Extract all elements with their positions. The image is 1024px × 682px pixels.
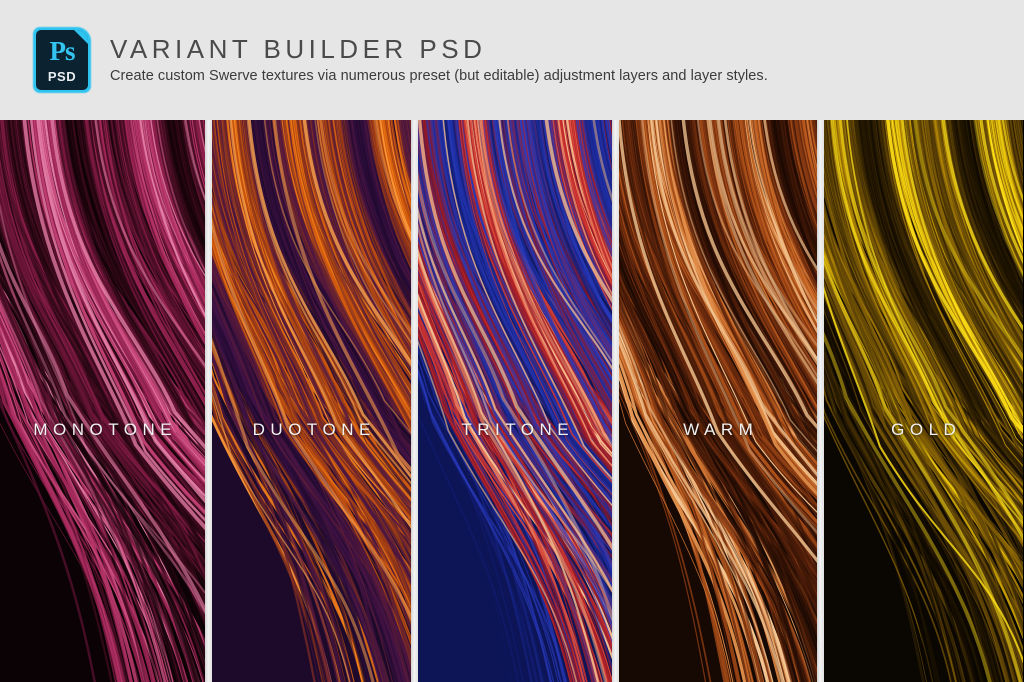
variant-gallery: MONOTONEDUOTONETRITONEWARMGOLD [0,120,1024,682]
panel-divider [612,120,619,682]
poster-root: Ps PSD VARIANT BUILDER PSD Create custom… [0,0,1024,682]
page-title: VARIANT BUILDER PSD [110,36,768,63]
icon-psd-label: PSD [36,69,88,84]
variant-panel-gold[interactable]: GOLD [824,120,1023,682]
header-text-block: VARIANT BUILDER PSD Create custom Swerve… [110,36,768,84]
swerve-texture [824,120,1023,682]
swerve-texture [619,120,817,682]
swerve-texture [212,120,411,682]
variant-panel-monotone[interactable]: MONOTONE [0,120,205,682]
panel-divider [411,120,418,682]
variant-panel-duotone[interactable]: DUOTONE [212,120,411,682]
variant-panel-warm[interactable]: WARM [619,120,817,682]
icon-ps-label: Ps [36,36,88,67]
header-bar: Ps PSD VARIANT BUILDER PSD Create custom… [0,0,1024,120]
photoshop-psd-file-icon: Ps PSD [33,27,91,93]
swerve-texture [0,120,205,682]
page-subtitle: Create custom Swerve textures via numero… [110,68,768,84]
icon-body: Ps PSD [36,30,88,90]
panel-divider [205,120,212,682]
variant-panel-tritone[interactable]: TRITONE [418,120,612,682]
swerve-texture [418,120,612,682]
panel-divider [817,120,824,682]
